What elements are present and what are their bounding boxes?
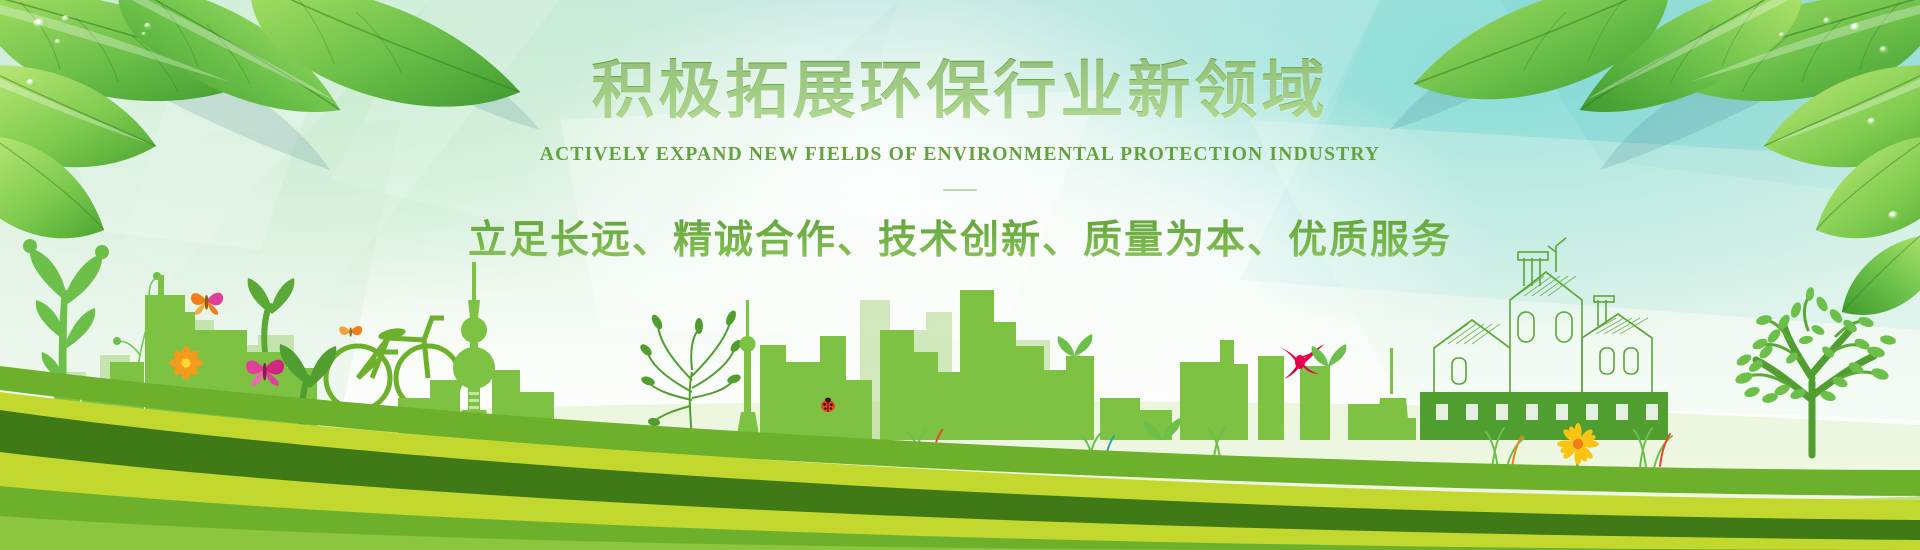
- ladybug: [821, 398, 835, 412]
- sprout-plant-buildings: [248, 278, 295, 352]
- wave-band-pale: [0, 424, 1920, 550]
- dandelion-buds: [638, 309, 743, 427]
- city-skyline-pale-mid: [860, 300, 1050, 440]
- city-skyline-midleft: [398, 370, 554, 440]
- bicycle: [326, 318, 460, 410]
- wave-band-yellow-green: [0, 392, 1920, 524]
- dandelion-plant: [648, 322, 734, 440]
- wave-band-dark-green: [0, 410, 1920, 550]
- headline-block: 积极拓展环保行业新领域 ACTIVELY EXPAND NEW FIELDS O…: [0, 58, 1920, 265]
- sprout-plant-left: [23, 239, 109, 420]
- wave-band-yellow-green-lower: [0, 452, 1920, 550]
- wave-band-green-bottom: [0, 516, 1920, 550]
- leafy-tree: [1734, 286, 1897, 455]
- city-skyline-left: [54, 275, 317, 430]
- bicycle-seat: [377, 326, 406, 342]
- subtitle-english: ACTIVELY EXPAND NEW FIELDS OF ENVIRONMEN…: [0, 144, 1920, 166]
- reed-leaf-dots: [113, 272, 180, 352]
- divider: [943, 189, 977, 191]
- city-skyline-pale-left: [60, 300, 294, 430]
- butterfly-pink: [246, 360, 284, 386]
- daisy-orange: [169, 346, 203, 380]
- reed-plants-left: [118, 278, 174, 420]
- hummingbird: [1278, 344, 1324, 379]
- butterfly-small-orange: [339, 326, 362, 337]
- leaf-sprigs: [1058, 334, 1347, 440]
- eco-banner: 积极拓展环保行业新领域 ACTIVELY EXPAND NEW FIELDS O…: [0, 0, 1920, 550]
- house-base: [1420, 392, 1668, 440]
- city-skyline-center: [736, 290, 1094, 440]
- seedling-sprout: [280, 344, 337, 430]
- page-title: 积极拓展环保行业新领域: [0, 58, 1920, 124]
- house-windows: [1436, 404, 1658, 420]
- wave-band-green-upper: [0, 366, 1920, 496]
- butterfly-orange: [191, 293, 223, 315]
- flower-tiny-mid: [834, 438, 853, 457]
- city-skyline-right: [1100, 340, 1416, 440]
- oriental-pearl-tower: [453, 262, 495, 440]
- sunflower: [1557, 423, 1599, 470]
- grass-tufts: [92, 426, 1672, 470]
- tagline: 立足长远、精诚合作、技术创新、质量为本、优质服务: [0, 209, 1920, 265]
- wave-band-green-lower: [0, 486, 1920, 550]
- grass-accents: [110, 430, 1670, 468]
- daisy-pink: [851, 467, 882, 498]
- tree-leaves: [1734, 286, 1897, 404]
